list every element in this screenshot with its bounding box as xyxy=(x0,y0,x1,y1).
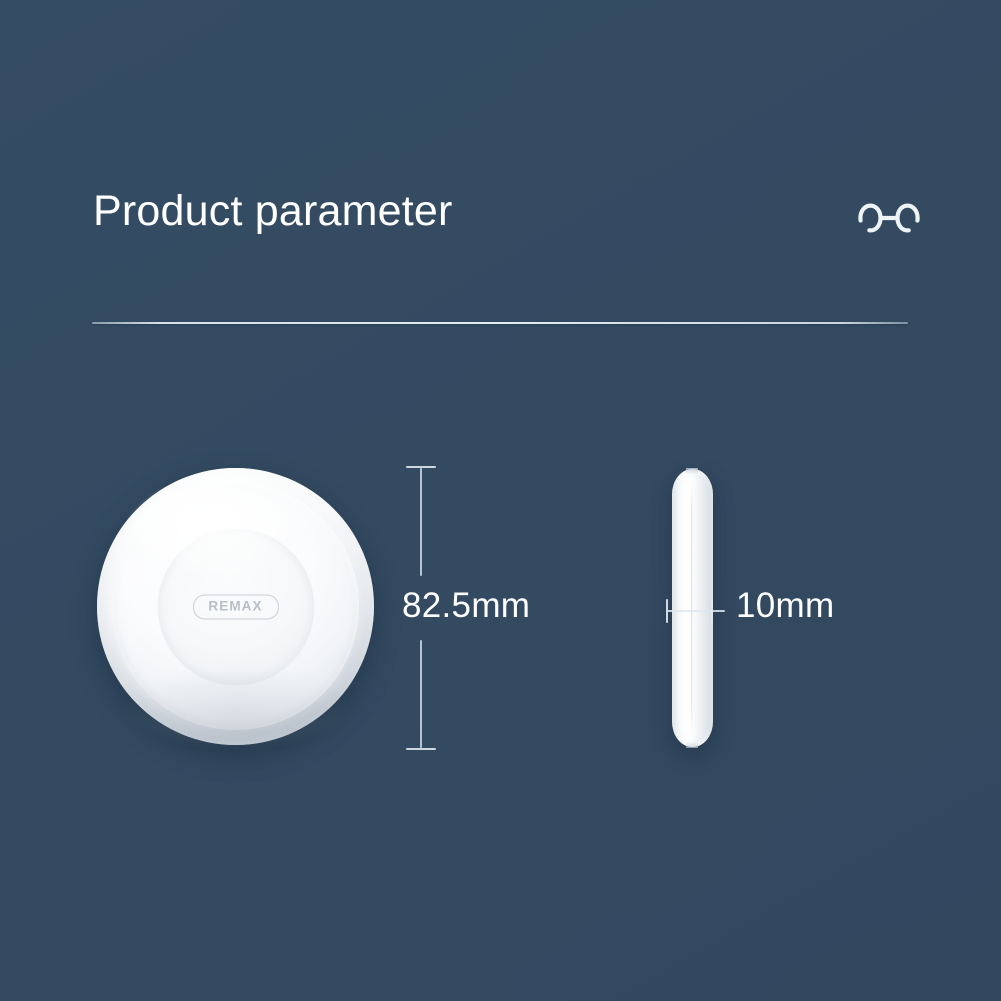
infinity-icon xyxy=(858,196,920,240)
page-title: Product parameter xyxy=(93,190,453,233)
remax-logo: REMAX xyxy=(193,594,279,619)
product-parameter-slide: Product parameter REMAX 82.5mm xyxy=(0,0,1001,1001)
product-top-view: REMAX xyxy=(97,468,374,745)
dimension-segment-upper xyxy=(420,468,422,576)
dimension-rule xyxy=(667,610,725,612)
thickness-label: 10mm xyxy=(736,588,834,623)
diameter-label: 82.5mm xyxy=(402,588,530,623)
dimension-tick-bottom xyxy=(406,748,436,750)
dimension-tick-right xyxy=(711,599,713,623)
pad-side-notch-bottom xyxy=(686,739,698,748)
dimension-segment-lower xyxy=(420,640,422,748)
header-divider xyxy=(92,322,908,324)
thickness-dimension-line xyxy=(666,597,728,625)
